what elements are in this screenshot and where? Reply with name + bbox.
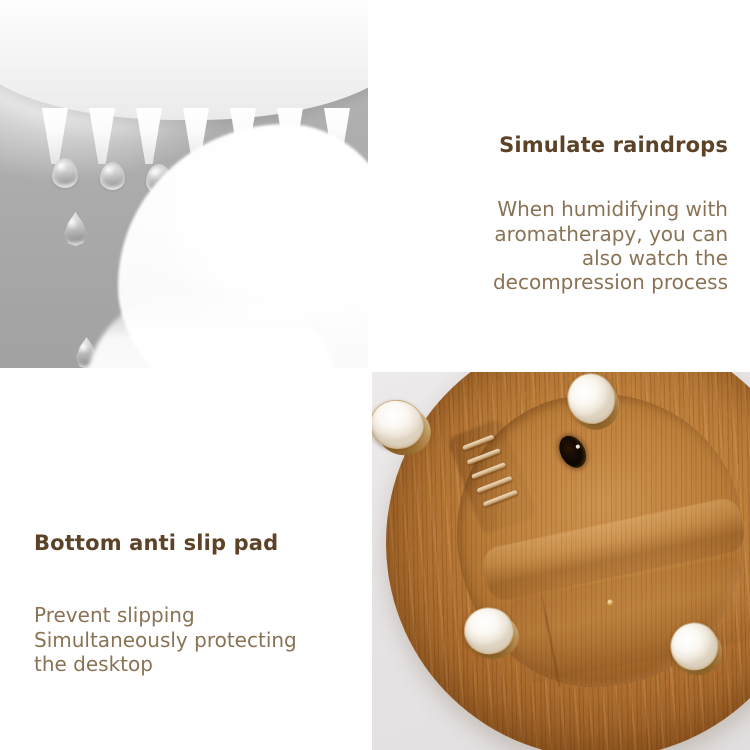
infographic-page: Simulate raindrops When humidifying with… bbox=[0, 0, 750, 750]
feature-body-line: decompression process bbox=[380, 270, 728, 294]
vent-slot bbox=[471, 462, 506, 480]
feature-body-line: Prevent slipping bbox=[34, 603, 364, 627]
hanging-water-bead bbox=[100, 162, 125, 190]
feature-heading-simulate-raindrops: Simulate raindrops bbox=[380, 132, 728, 159]
water-foam-bubble bbox=[302, 286, 312, 296]
feature-body-line: Simultaneously protecting bbox=[34, 628, 364, 652]
humidifier-body bbox=[0, 0, 368, 120]
vent-slot bbox=[476, 476, 512, 494]
feature-heading-bottom-anti-slip-pad: Bottom anti slip pad bbox=[34, 530, 364, 557]
water-foam-bubble bbox=[314, 232, 332, 250]
rim-tooth bbox=[89, 108, 115, 164]
wood-base-photo bbox=[372, 372, 750, 750]
water-foam-bubble bbox=[343, 263, 356, 276]
vent-slot bbox=[483, 490, 518, 508]
feature-body-bottom-anti-slip-pad: Prevent slipping Simultaneously protecti… bbox=[34, 603, 364, 676]
feature-text-simulate-raindrops: Simulate raindrops When humidifying with… bbox=[380, 132, 728, 295]
drain-hole-highlight bbox=[575, 444, 580, 449]
rim-tooth bbox=[136, 108, 162, 164]
raindrops-photo bbox=[0, 0, 368, 368]
feature-body-line: When humidifying with bbox=[380, 197, 728, 221]
feature-body-simulate-raindrops: When humidifying with aromatherapy, you … bbox=[380, 197, 728, 295]
hanging-water-bead bbox=[52, 158, 78, 188]
feature-text-bottom-anti-slip-pad: Bottom anti slip pad Prevent slipping Si… bbox=[34, 530, 364, 676]
feature-body-line: aromatherapy, you can bbox=[380, 222, 728, 246]
feature-body-line: the desktop bbox=[34, 652, 364, 676]
vent-slot bbox=[467, 448, 501, 465]
feature-body-line: also watch the bbox=[380, 246, 728, 270]
rim-tooth bbox=[42, 108, 68, 164]
